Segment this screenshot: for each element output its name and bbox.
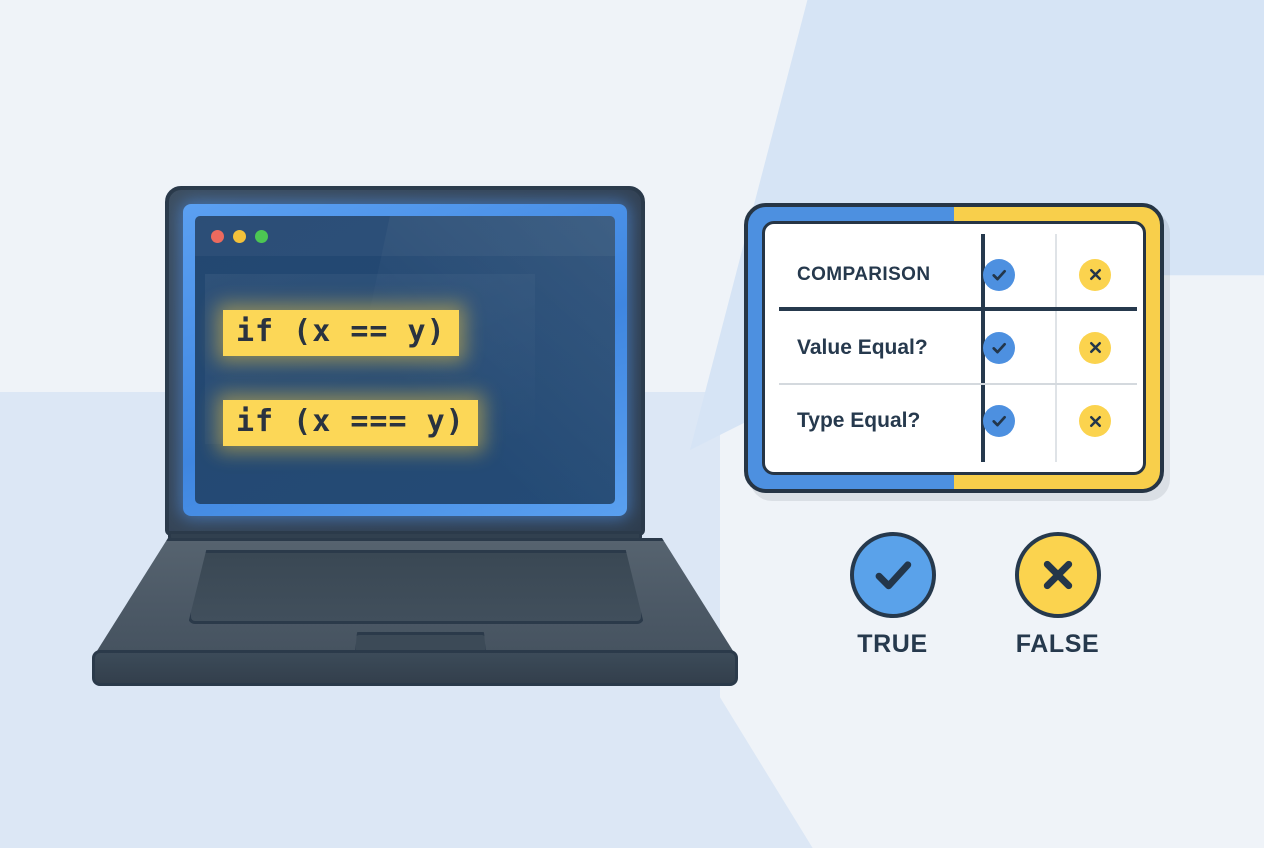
check-icon — [983, 259, 1015, 291]
cell-true-comparison — [951, 259, 1047, 291]
legend-label-false: FALSE — [1016, 630, 1100, 659]
comparison-table: COMPARISON — [765, 224, 1143, 472]
cell-true-type-equal — [951, 405, 1047, 437]
check-icon — [983, 332, 1015, 364]
code-window-titlebar — [195, 216, 615, 256]
cell-false-value-equal — [1047, 332, 1143, 364]
table-row: Value Equal? — [765, 311, 1143, 384]
screen-glow: if (x == y) if (x === y) — [183, 204, 627, 516]
cross-icon — [1015, 532, 1101, 618]
row-label-value-equal: Value Equal? — [765, 336, 951, 360]
laptop-lid: if (x == y) if (x === y) — [165, 186, 645, 536]
row-label-comparison: COMPARISON — [765, 264, 951, 286]
cell-false-type-equal — [1047, 405, 1143, 437]
legend-label-true: TRUE — [857, 630, 927, 659]
table-row: COMPARISON — [765, 238, 1143, 311]
comparison-card-frame: COMPARISON — [744, 203, 1164, 493]
table-row: Type Equal? — [765, 385, 1143, 458]
check-icon — [983, 405, 1015, 437]
minimize-dot-icon[interactable] — [233, 230, 246, 243]
cell-true-value-equal — [951, 332, 1047, 364]
code-line-strict-equality: if (x === y) — [223, 400, 478, 446]
legend: TRUE FALSE — [820, 532, 1130, 672]
laptop-base — [90, 538, 740, 688]
legend-item-false: FALSE — [985, 532, 1130, 672]
cross-icon — [1079, 259, 1111, 291]
laptop-screen: if (x == y) if (x === y) — [195, 216, 615, 504]
laptop-base-front — [92, 650, 738, 686]
legend-item-true: TRUE — [820, 532, 965, 672]
close-dot-icon[interactable] — [211, 230, 224, 243]
check-icon — [850, 532, 936, 618]
code-area: if (x == y) if (x === y) — [195, 268, 615, 504]
code-spacer — [223, 356, 615, 400]
maximize-dot-icon[interactable] — [255, 230, 268, 243]
cross-icon — [1079, 332, 1111, 364]
code-line-loose-equality: if (x == y) — [223, 310, 459, 356]
illustration-canvas: if (x == y) if (x === y) — [0, 0, 1264, 848]
laptop-keyboard-deck — [188, 550, 644, 624]
comparison-card-body: COMPARISON — [762, 221, 1146, 475]
cross-icon — [1079, 405, 1111, 437]
laptop-illustration: if (x == y) if (x === y) — [90, 186, 740, 698]
row-label-type-equal: Type Equal? — [765, 409, 951, 433]
cell-false-comparison — [1047, 259, 1143, 291]
comparison-card: COMPARISON — [744, 203, 1164, 493]
